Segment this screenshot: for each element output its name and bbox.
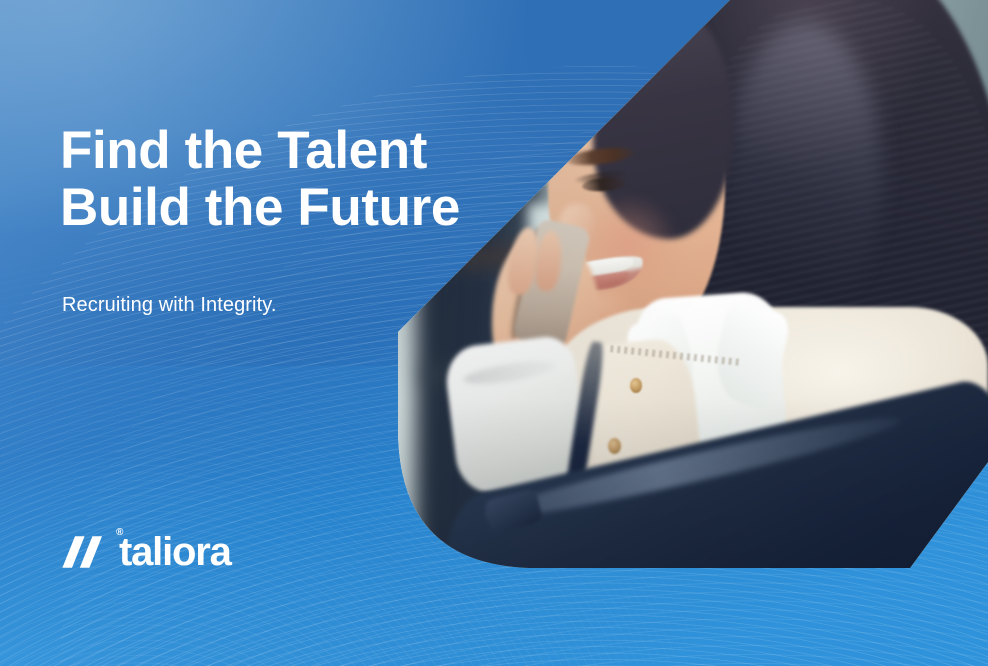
tagline: Recruiting with Integrity.	[62, 292, 277, 318]
registered-trademark-icon: ®	[116, 528, 123, 538]
headline-line-1: Find the Talent	[60, 122, 460, 179]
marketing-banner: Find the Talent Build the Future Recruit…	[0, 0, 988, 666]
page-title: Find the Talent Build the Future	[60, 122, 460, 236]
headline-line-2: Build the Future	[60, 179, 460, 236]
photo-hair-highlight	[728, 23, 881, 330]
double-chevron-mark-icon	[62, 535, 112, 569]
brand-wordmark: taliora	[119, 532, 231, 572]
photo-jacket-button	[630, 378, 642, 393]
brand-logo[interactable]: ® taliora	[62, 525, 231, 571]
